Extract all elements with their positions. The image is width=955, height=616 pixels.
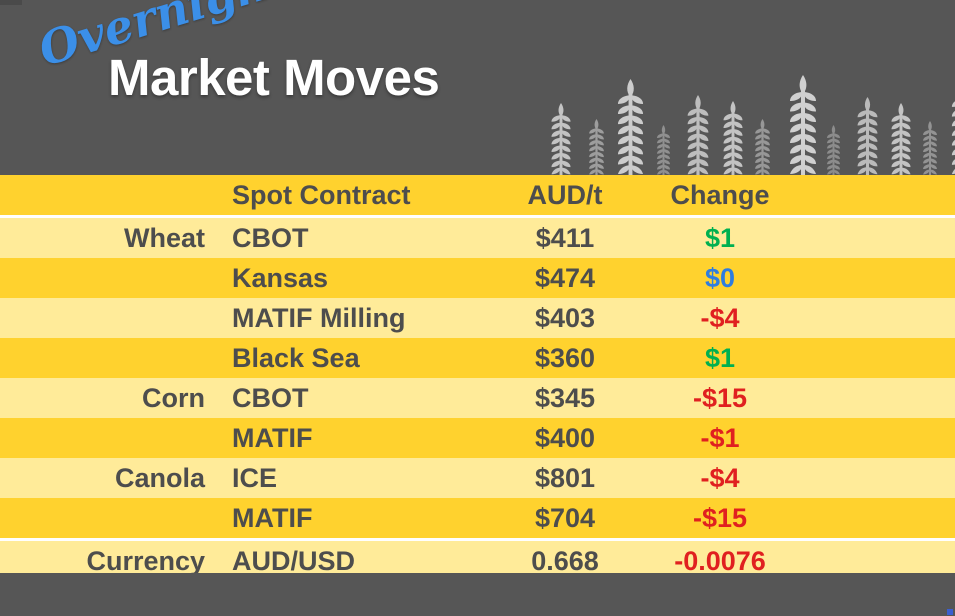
- cell-price: $411: [485, 223, 645, 254]
- cell-contract: CBOT: [205, 223, 485, 254]
- wheat-stalk-icon: [656, 125, 671, 175]
- cell-change: -$1: [645, 423, 795, 454]
- wheat-stalk-icon: [890, 103, 912, 175]
- cell-category: Wheat: [0, 223, 205, 254]
- wheat-decoration-row: [540, 60, 955, 175]
- header-cell-change: Change: [645, 180, 795, 211]
- wheat-stalk-icon: [856, 97, 879, 175]
- cell-change: -$4: [645, 303, 795, 334]
- cell-price: $360: [485, 343, 645, 374]
- cell-price: $400: [485, 423, 645, 454]
- wheat-stalk-icon: [588, 119, 605, 175]
- cell-contract: MATIF Milling: [205, 303, 485, 334]
- cell-price: $704: [485, 503, 645, 534]
- cell-price: $801: [485, 463, 645, 494]
- cell-price: 0.668: [485, 546, 645, 577]
- cell-category: Corn: [0, 383, 205, 414]
- wheat-stalk-icon: [616, 79, 645, 175]
- title-block: Market Moves Overnight: [0, 0, 520, 175]
- wheat-stalk-icon: [754, 119, 771, 175]
- cell-contract: CBOT: [205, 383, 485, 414]
- cell-contract: ICE: [205, 463, 485, 494]
- cell-category: Currency: [0, 546, 205, 577]
- cell-change: $0: [645, 263, 795, 294]
- cell-price: $474: [485, 263, 645, 294]
- table-row[interactable]: MATIF$400-$1: [0, 418, 955, 458]
- cell-contract: MATIF: [205, 503, 485, 534]
- cell-change: -$15: [645, 503, 795, 534]
- cell-contract: AUD/USD: [205, 546, 485, 577]
- cell-category: Canola: [0, 463, 205, 494]
- cell-change: $1: [645, 343, 795, 374]
- wheat-stalk-icon: [550, 103, 572, 175]
- table-row[interactable]: MATIF$704-$15: [0, 498, 955, 538]
- table-row[interactable]: WheatCBOT$411$1: [0, 218, 955, 258]
- table-row[interactable]: Kansas$474$0: [0, 258, 955, 298]
- cell-change: $1: [645, 223, 795, 254]
- wheat-stalk-icon: [722, 101, 744, 175]
- table-row[interactable]: Black Sea$360$1: [0, 338, 955, 378]
- market-table: Spot Contract AUD/t Change WheatCBOT$411…: [0, 175, 955, 581]
- cell-price: $345: [485, 383, 645, 414]
- table-body: WheatCBOT$411$1Kansas$474$0MATIF Milling…: [0, 218, 955, 581]
- cell-price: $403: [485, 303, 645, 334]
- corner-artifact: [947, 609, 953, 615]
- wheat-stalk-icon: [788, 75, 818, 175]
- cell-contract: Kansas: [205, 263, 485, 294]
- cell-change: -$15: [645, 383, 795, 414]
- footer-bar: [0, 573, 955, 616]
- wheat-stalk-icon: [922, 121, 938, 175]
- cell-change: -0.0076: [645, 546, 795, 577]
- wheat-stalk-icon: [686, 95, 710, 175]
- table-header-row: Spot Contract AUD/t Change: [0, 175, 955, 215]
- table-row[interactable]: MATIF Milling$403-$4: [0, 298, 955, 338]
- header-cell-price: AUD/t: [485, 180, 645, 211]
- header-cell-contract: Spot Contract: [205, 180, 485, 211]
- cell-contract: MATIF: [205, 423, 485, 454]
- header-banner: Market Moves Overnight: [0, 0, 955, 175]
- cell-change: -$4: [645, 463, 795, 494]
- wheat-stalk-icon: [826, 125, 841, 175]
- overnight-market-moves-card: Market Moves Overnight Spot Contract AUD…: [0, 0, 955, 616]
- wheat-stalk-icon: [950, 83, 955, 175]
- table-row[interactable]: CanolaICE$801-$4: [0, 458, 955, 498]
- table-row[interactable]: CornCBOT$345-$15: [0, 378, 955, 418]
- page-title: Market Moves: [108, 52, 439, 103]
- cell-contract: Black Sea: [205, 343, 485, 374]
